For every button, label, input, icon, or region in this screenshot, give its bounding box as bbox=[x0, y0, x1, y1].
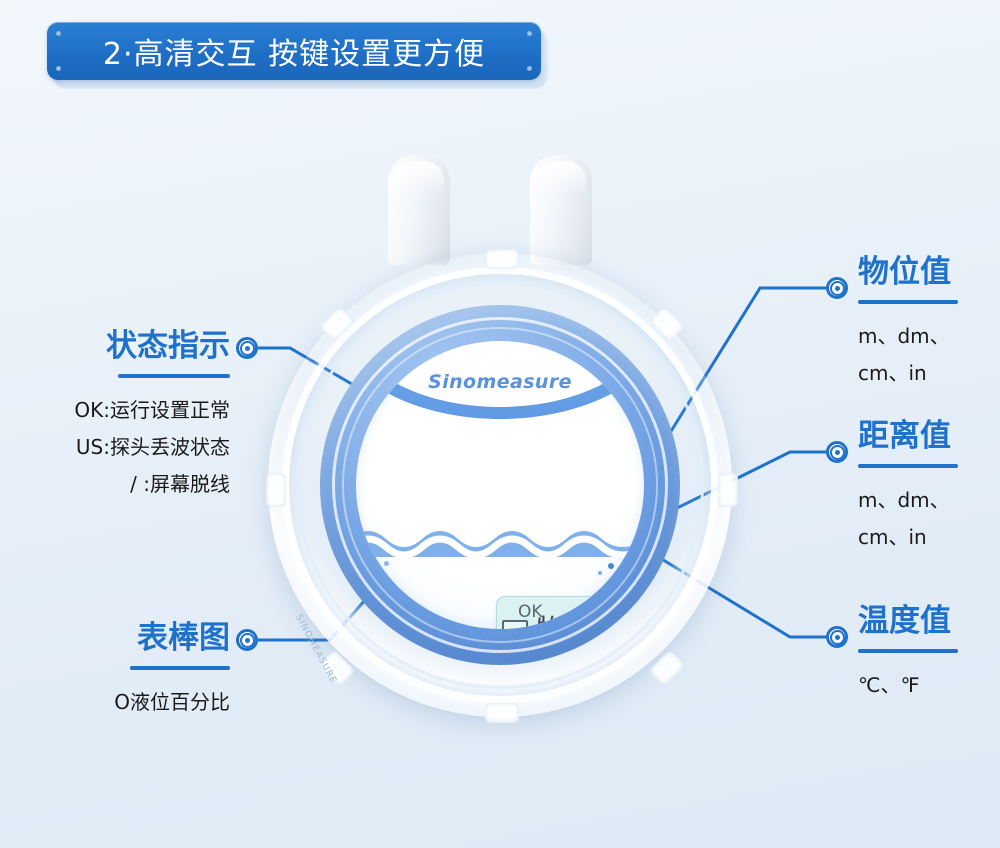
annotation-line: cm、in bbox=[858, 519, 1000, 556]
device-faceplate: Sinomeasure OK II bbox=[356, 341, 644, 629]
annotation-line: m、dm、 bbox=[858, 482, 1000, 519]
marker-temperature-value bbox=[826, 626, 848, 648]
annotation-temperature-value: 温度值 ℃、℉ bbox=[858, 595, 1000, 704]
annotation-line: cm、in bbox=[858, 355, 1000, 392]
marker-level-value bbox=[826, 277, 848, 299]
plaque: 2·高清交互 按键设置更方便 bbox=[47, 22, 541, 80]
cable-gland-right bbox=[530, 155, 592, 265]
annotation-bargraph: 表棒图 O液位百分比 bbox=[30, 612, 230, 721]
screw-icon bbox=[56, 31, 61, 36]
screw-icon bbox=[56, 66, 61, 71]
lcd-row-value: 3.836 bbox=[586, 616, 644, 629]
annotation-heading: 温度值 bbox=[858, 595, 1000, 640]
shell-clip-tab bbox=[485, 249, 519, 269]
annotation-heading: 表棒图 bbox=[30, 612, 230, 657]
cable-gland-left bbox=[388, 155, 450, 265]
lcd-bargraph bbox=[502, 620, 528, 629]
annotation-line: OK:运行设置正常 bbox=[10, 392, 230, 429]
annotation-rule bbox=[118, 374, 230, 378]
shell-clip-tab bbox=[718, 473, 738, 507]
annotation-heading: 距离值 bbox=[858, 410, 1000, 455]
annotation-rule bbox=[858, 649, 958, 653]
section-title-plaque: 2·高清交互 按键设置更方便 bbox=[47, 22, 541, 80]
annotation-rule bbox=[130, 666, 230, 670]
screw-icon bbox=[527, 31, 532, 36]
annotation-heading: 状态指示 bbox=[10, 320, 230, 365]
annotation-rule bbox=[858, 464, 958, 468]
annotation-rule bbox=[858, 300, 958, 304]
annotation-line: US:探头丢波状态 bbox=[10, 429, 230, 466]
annotation-line: ℃、℉ bbox=[858, 667, 1000, 704]
section-title-text: 2·高清交互 按键设置更方便 bbox=[103, 29, 485, 73]
infographic-stage: 2·高清交互 按键设置更方便 bbox=[0, 0, 1000, 848]
screw-icon bbox=[527, 66, 532, 71]
brand-logo-text: Sinomeasure bbox=[356, 371, 644, 393]
shell-clip-tab bbox=[485, 703, 519, 723]
annotation-heading: 物位值 bbox=[858, 246, 1000, 291]
lcd-readout-rows: 物位 3.836 m 距离 1.164 m 温度 25.1 ℃ bbox=[536, 616, 644, 629]
annotation-line: O液位百分比 bbox=[30, 684, 230, 721]
annotation-distance-value: 距离值 m、dm、 cm、in bbox=[858, 410, 1000, 556]
annotation-line: / :屏幕脱线 bbox=[10, 466, 230, 503]
level-transmitter-device: SINOMEASURE Sinomeasure OK II bbox=[260, 145, 740, 805]
annotation-level-value: 物位值 m、dm、 cm、in bbox=[858, 246, 1000, 392]
lcd-display: OK II 物位 3.836 m 距离 1.164 m bbox=[496, 596, 644, 629]
lcd-row-level: 物位 3.836 m bbox=[536, 616, 644, 629]
marker-bargraph bbox=[236, 629, 258, 651]
shell-clip-tab bbox=[266, 473, 286, 507]
marker-distance-value bbox=[826, 441, 848, 463]
annotation-line: m、dm、 bbox=[858, 318, 1000, 355]
annotation-status-indicator: 状态指示 OK:运行设置正常 US:探头丢波状态 / :屏幕脱线 bbox=[10, 320, 230, 503]
lcd-row-label: 物位 bbox=[536, 616, 586, 629]
wave-decoration bbox=[356, 523, 644, 557]
marker-status-indicator bbox=[236, 337, 258, 359]
